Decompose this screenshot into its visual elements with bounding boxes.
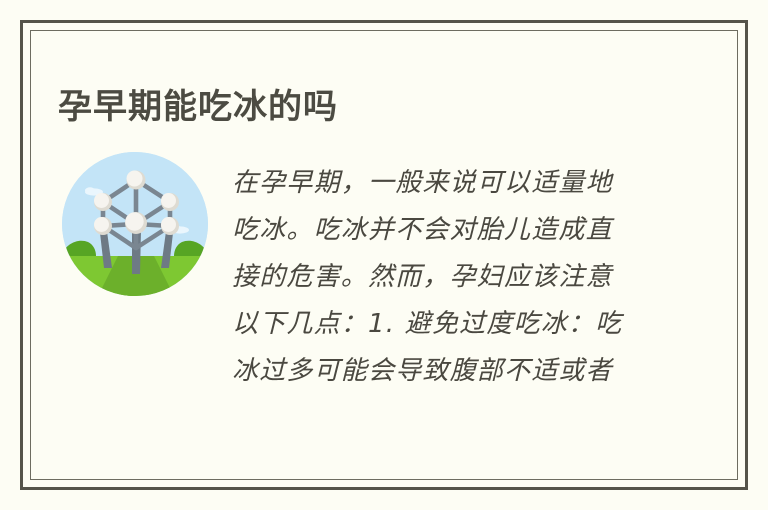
atomium-illustration-svg [62, 152, 208, 296]
article-card-page: 孕早期能吃冰的吗 [0, 0, 768, 510]
article-illustration [62, 152, 208, 296]
body-line: 在孕早期，一般来说可以适量地 [232, 160, 662, 207]
body-line: 以下几点：1. 避免过度吃冰：吃 [232, 301, 662, 348]
article-body: 在孕早期，一般来说可以适量地 吃冰。吃冰并不会对胎儿造成直 接的危害。然而，孕妇… [232, 160, 662, 395]
body-line: 冰过多可能会导致腹部不适或者 [232, 348, 662, 395]
body-line: 接的危害。然而，孕妇应该注意 [232, 254, 662, 301]
page-title: 孕早期能吃冰的吗 [58, 86, 338, 129]
body-line: 吃冰。吃冰并不会对胎儿造成直 [232, 207, 662, 254]
